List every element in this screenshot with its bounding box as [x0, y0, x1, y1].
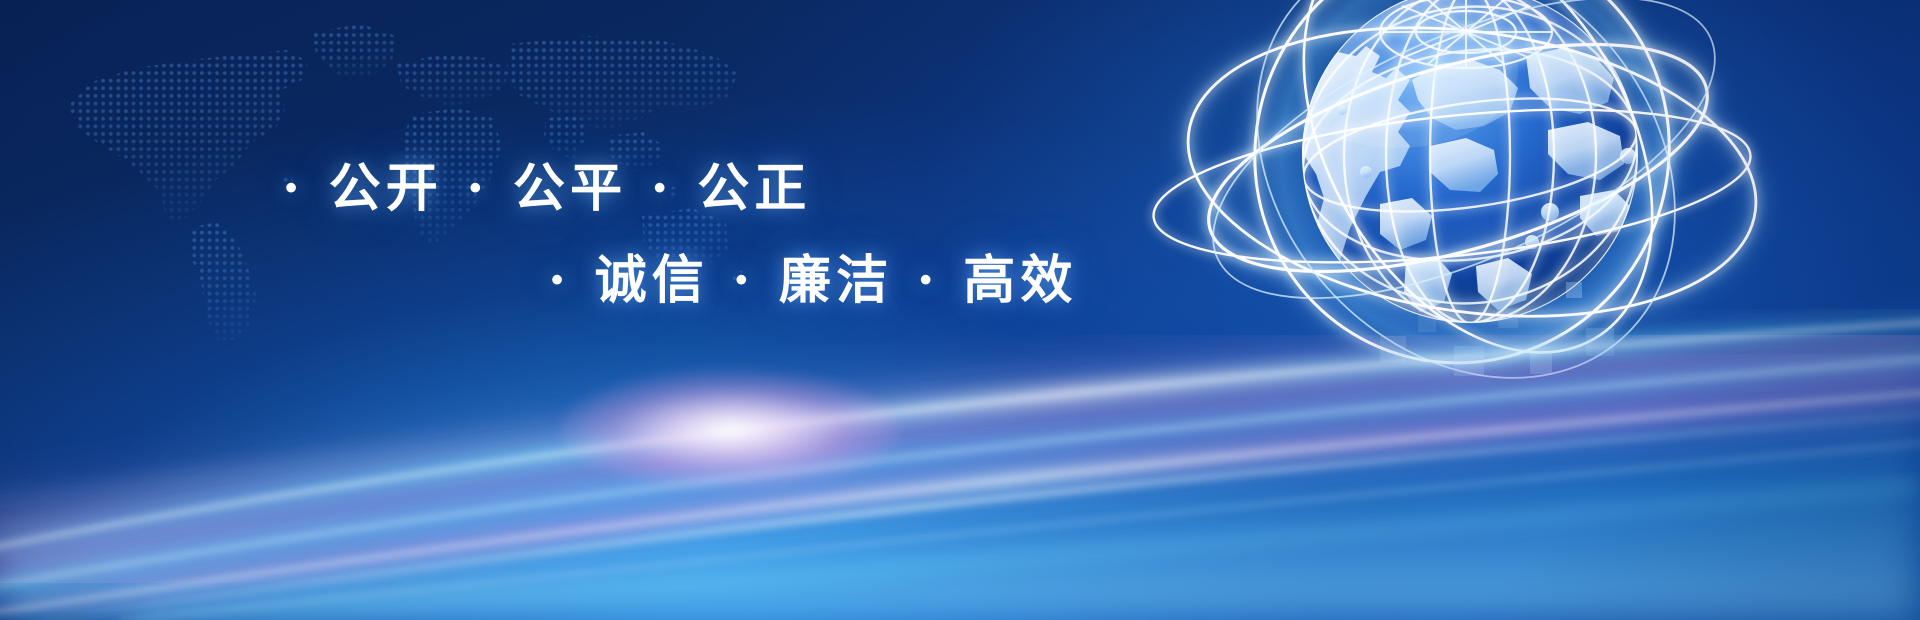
wave-focal-glow	[560, 370, 900, 490]
promotional-banner: · 公开 · 公平 · 公正 · 诚信 · 廉洁 · 高效	[0, 0, 1920, 620]
slogan-block: · 公开 · 公平 · 公正 · 诚信 · 廉洁 · 高效	[0, 0, 1150, 340]
slogan-line-1: · 公开 · 公平 · 公正	[282, 146, 812, 221]
light-wave-streaks	[0, 290, 1920, 620]
